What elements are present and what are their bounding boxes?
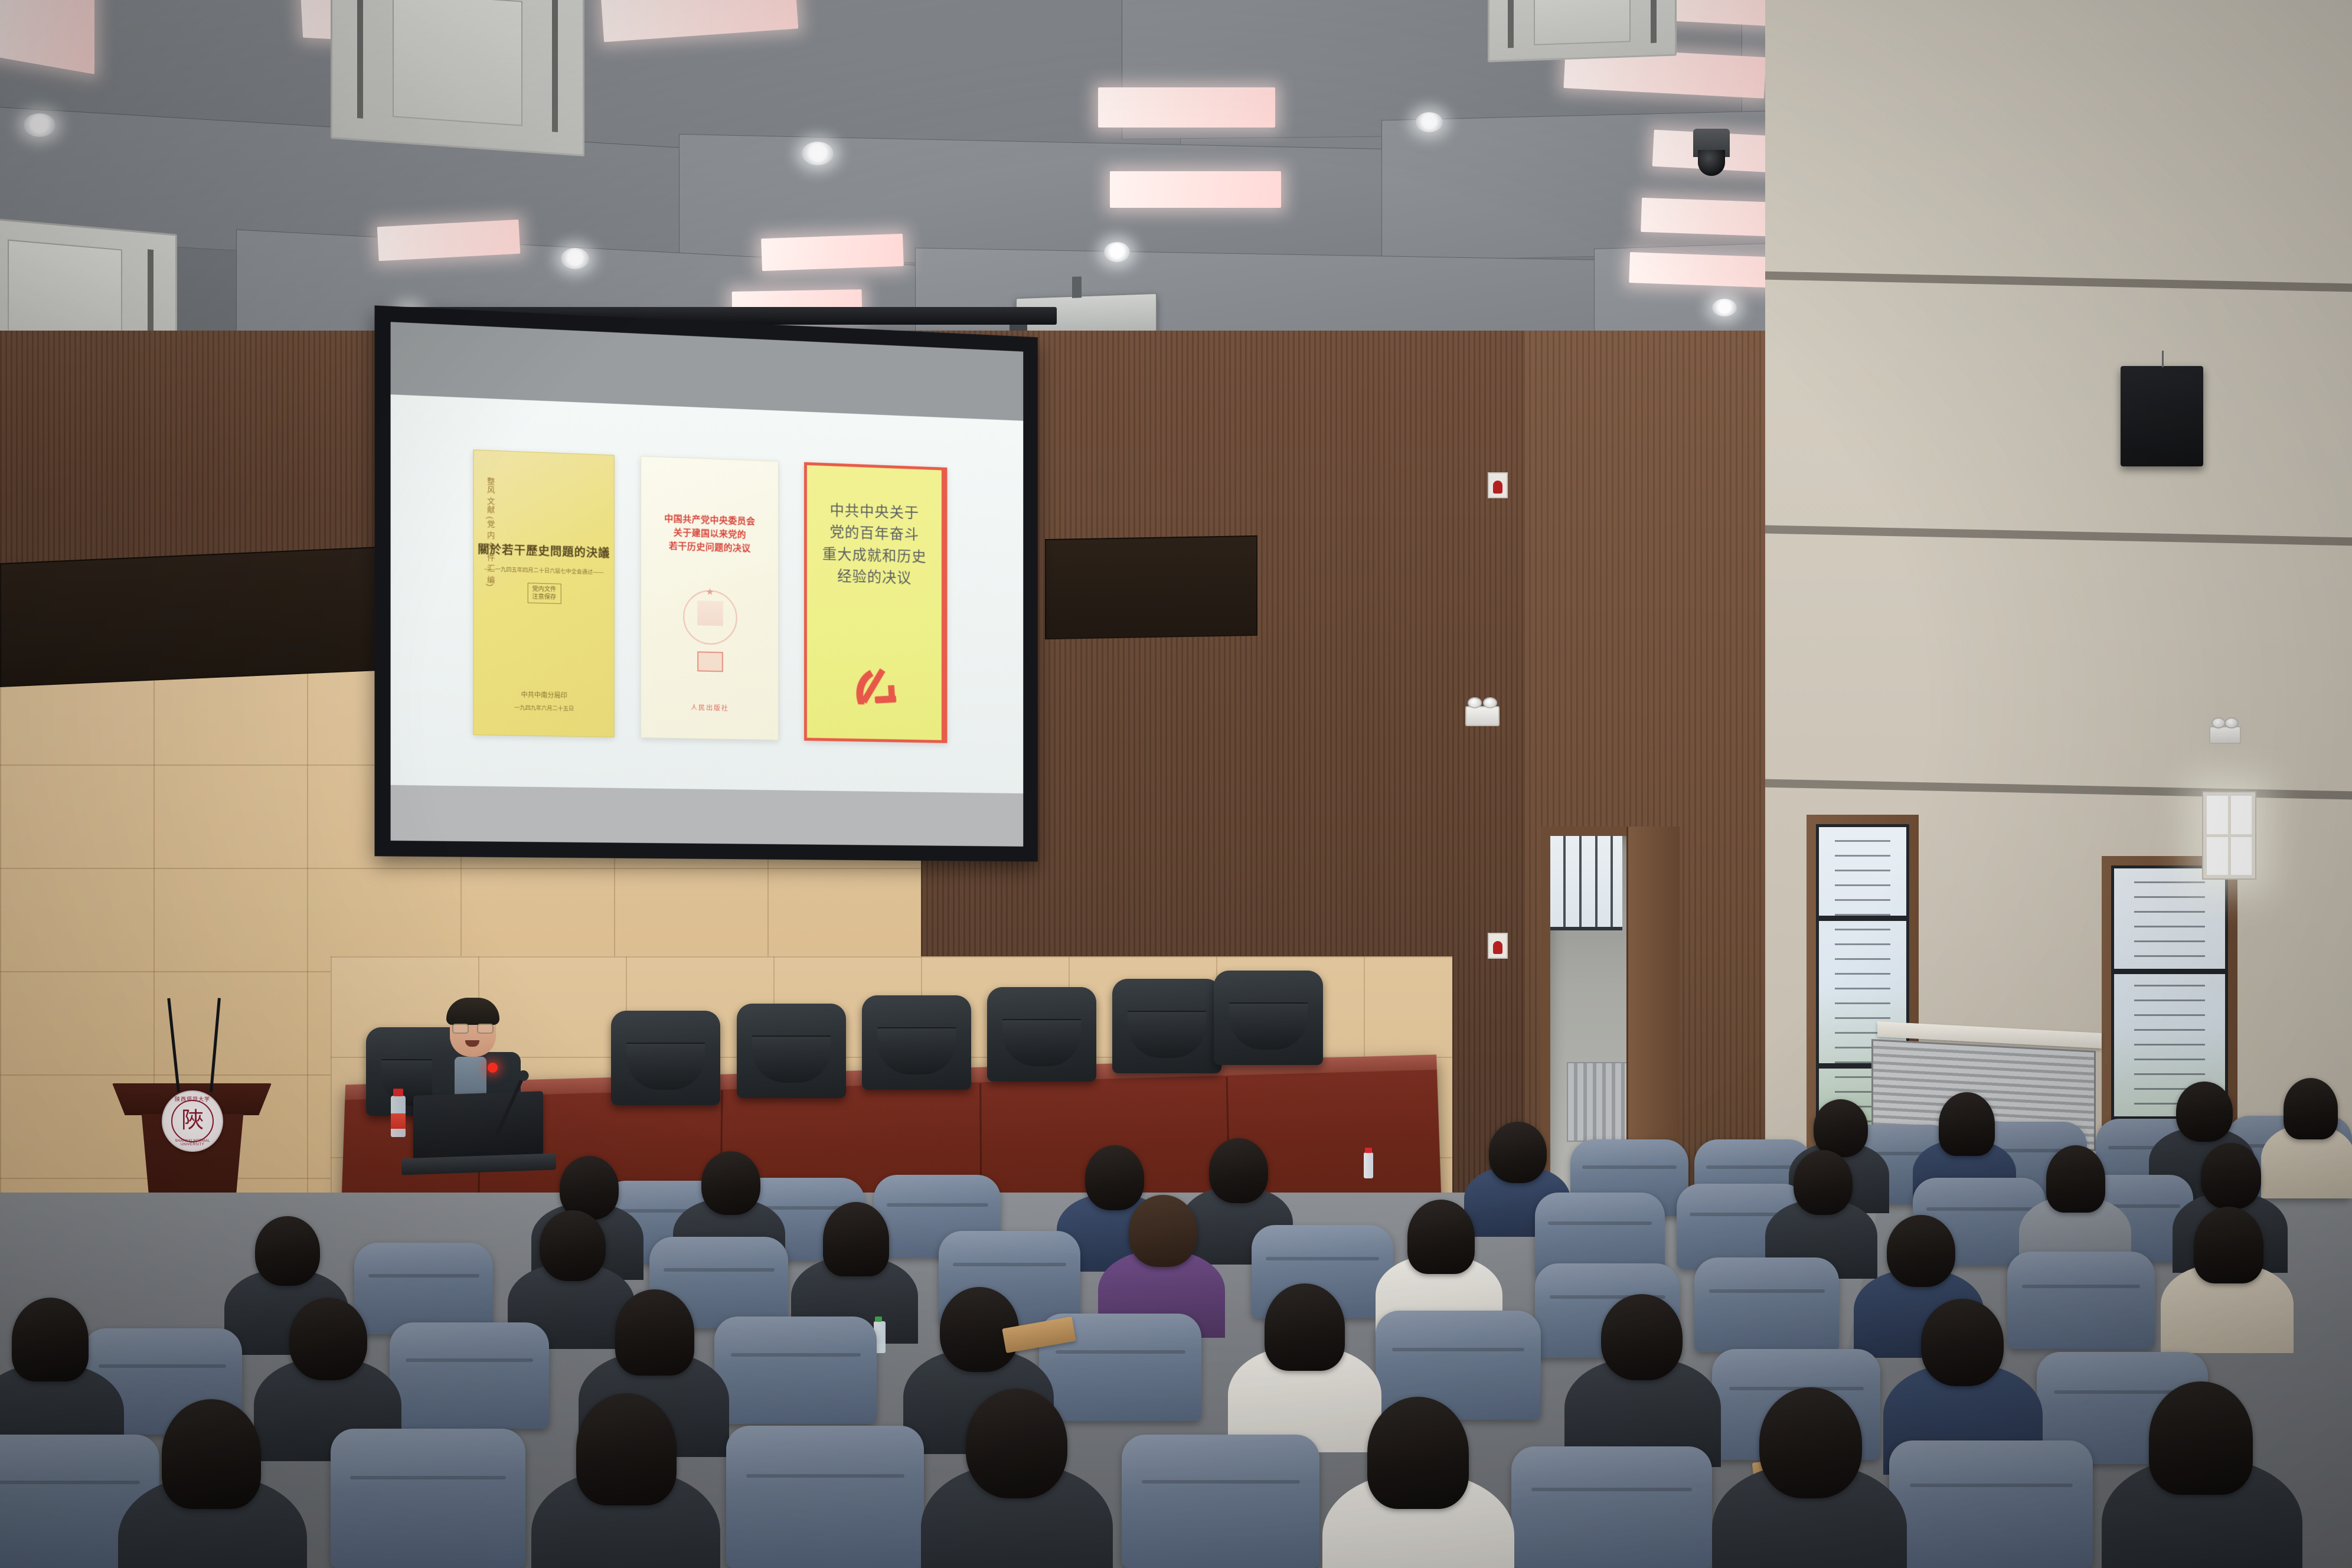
hammer-and-sickle-icon: [850, 662, 899, 709]
attendee-head: [2201, 1143, 2261, 1209]
stage-chair-2[interactable]: [737, 1004, 846, 1098]
stage-chair-1[interactable]: [611, 1011, 720, 1105]
wall-inset-panel: [0, 547, 378, 687]
fire-alarm-call-point-icon: [1488, 472, 1508, 498]
ac-vent-icon: [1488, 0, 1677, 63]
downlight: [24, 113, 55, 137]
stage-chair-3[interactable]: [862, 995, 971, 1090]
downlight: [1712, 299, 1737, 316]
attendee-head: [1085, 1145, 1144, 1210]
wall-speaker-icon: [2121, 366, 2203, 466]
seat[interactable]: [1122, 1435, 1319, 1568]
slide-letterbox-bottom: [391, 785, 1024, 847]
seat[interactable]: [390, 1322, 549, 1429]
doc1945-stamp-line1: 党内文件: [532, 585, 556, 593]
strip-light: [1098, 87, 1275, 128]
seat[interactable]: [331, 1429, 525, 1568]
doc1945-stamp-line2: 注意保存: [532, 593, 556, 601]
attendee-head: [615, 1289, 694, 1376]
ac-vent-icon: [331, 0, 584, 156]
downlight: [802, 142, 834, 165]
attendee-head: [1489, 1122, 1547, 1183]
doc1981-publisher: 人民出版社: [641, 701, 778, 714]
attendee-head: [2194, 1207, 2263, 1283]
emergency-light-icon: [1465, 706, 1500, 726]
wall-reveal-line: [1765, 272, 2352, 292]
fire-alarm-call-point-icon-2: [1488, 933, 1508, 959]
attendee-head: [2046, 1145, 2105, 1213]
security-camera-icon: [1693, 129, 1730, 157]
doc2021-title: 中共中央关于 党的百年奋斗 重大成就和历史 经验的决议: [814, 499, 935, 590]
corridor-window: [1550, 836, 1622, 930]
doc2021-title-line4: 经验的决议: [814, 565, 935, 590]
stage-chair-5[interactable]: [1112, 979, 1221, 1073]
wall-reveal-line: [1765, 779, 2352, 800]
doc1945-subtitle: ——一九四五年四月二十日六届七中全会通过——: [478, 564, 610, 576]
screen-surface: 整风 文献 (党 内 文 件 汇 编) 關於若干歷史問題的決議 ——一九四五年四…: [391, 322, 1024, 847]
downlight: [561, 248, 589, 269]
attendee-head: [540, 1210, 606, 1281]
emblem-glyph: 陜: [163, 1109, 222, 1132]
attendee-head: [255, 1216, 320, 1286]
strip-light: [1110, 171, 1281, 208]
projection-screen: 整风 文献 (党 内 文 件 汇 编) 關於若干歷史問題的決議 ——一九四五年四…: [374, 305, 1037, 861]
attendee-head: [1939, 1092, 1995, 1156]
seat[interactable]: [1694, 1257, 1839, 1352]
seat[interactable]: [1889, 1440, 2093, 1568]
strip-light: [761, 234, 904, 271]
downlight: [1104, 242, 1130, 262]
doc1945-publisher: 中共中南分局印: [473, 688, 613, 701]
attendee-head: [12, 1298, 89, 1381]
seat[interactable]: [2007, 1252, 2155, 1349]
attendee-head: [701, 1151, 760, 1215]
corridor-radiator: [1567, 1062, 1629, 1142]
slide-content: 整风 文献 (党 内 文 件 汇 编) 關於若干歷史問題的決議 ——一九四五年四…: [391, 394, 1024, 793]
attendee-head: [576, 1393, 677, 1505]
doc1981-title: 中国共产党中央委员会 关于建国以来党的 若干历史问题的决议: [647, 511, 772, 557]
wall-inset-panel: [1045, 535, 1257, 639]
attendee-head: [1814, 1099, 1868, 1157]
attendee-head: [2176, 1082, 2233, 1142]
slide-document-2021: 中共中央关于 党的百年奋斗 重大成就和历史 经验的决议: [804, 462, 947, 743]
speaker-glasses-icon: [452, 1024, 494, 1034]
attendee-head: [1265, 1283, 1345, 1371]
microphone-active-indicator: [488, 1063, 498, 1073]
emblem-en-text: SHAANXI NORMAL UNIVERSITY: [163, 1139, 222, 1146]
seat[interactable]: [354, 1243, 493, 1334]
seat[interactable]: [1511, 1446, 1712, 1568]
doc1981-seal: ★: [683, 589, 737, 645]
attendee-head: [2149, 1381, 2253, 1495]
attendee-head: [1759, 1387, 1862, 1498]
attendee-head: [1367, 1397, 1469, 1509]
speaker-water-bottle: [391, 1096, 406, 1137]
attendee-head: [1209, 1138, 1268, 1203]
downlight: [1416, 112, 1443, 132]
stage-chair-4[interactable]: [987, 987, 1096, 1082]
attendee-head: [2284, 1078, 2338, 1139]
emergency-light-icon-2: [2209, 726, 2241, 744]
attendee-head: [1921, 1299, 2004, 1386]
university-emblem: 陕西师范大学 陜 SHAANXI NORMAL UNIVERSITY: [162, 1090, 223, 1152]
attendee-head: [1601, 1294, 1683, 1380]
attendee-head: [289, 1298, 367, 1380]
doc1981-red-stamp: [697, 651, 723, 672]
speaker-laptop[interactable]: [413, 1091, 543, 1159]
attendee-head: [1129, 1195, 1197, 1267]
stage-chair-6[interactable]: [1214, 971, 1323, 1065]
auditorium-scene: 整风 文献 (党 内 文 件 汇 编) 關於若干歷史問題的決議 ——一九四五年四…: [0, 0, 2352, 1568]
doc2021-title-line2: 党的百年奋斗: [814, 521, 935, 547]
emblem-cn-text: 陕西师范大学: [163, 1095, 222, 1103]
doc1945-stamp: 党内文件 注意保存: [527, 583, 561, 604]
water-bottle: [1364, 1152, 1373, 1178]
seat[interactable]: [714, 1317, 877, 1424]
attendee-head: [966, 1389, 1067, 1498]
attendee-head: [823, 1202, 889, 1276]
wall-sconce: [2202, 791, 2256, 880]
seat[interactable]: [726, 1426, 924, 1568]
attendee-head: [1794, 1150, 1853, 1215]
seal-star-icon: ★: [705, 586, 714, 597]
doc2021-title-line3: 重大成就和历史: [814, 543, 935, 569]
doc1945-date: 一九四九年六月二十五日: [473, 703, 613, 713]
slide-document-1945: 整风 文献 (党 内 文 件 汇 编) 關於若干歷史問題的決議 ——一九四五年四…: [473, 449, 614, 737]
attendee-head: [1407, 1200, 1475, 1274]
wall-reveal-line: [1765, 525, 2352, 546]
slide-document-1981: 中国共产党中央委员会 关于建国以来党的 若干历史问题的决议 ★ 人民出版社: [641, 456, 779, 740]
attendee-head: [1887, 1215, 1955, 1287]
attendee-head: [162, 1399, 261, 1509]
